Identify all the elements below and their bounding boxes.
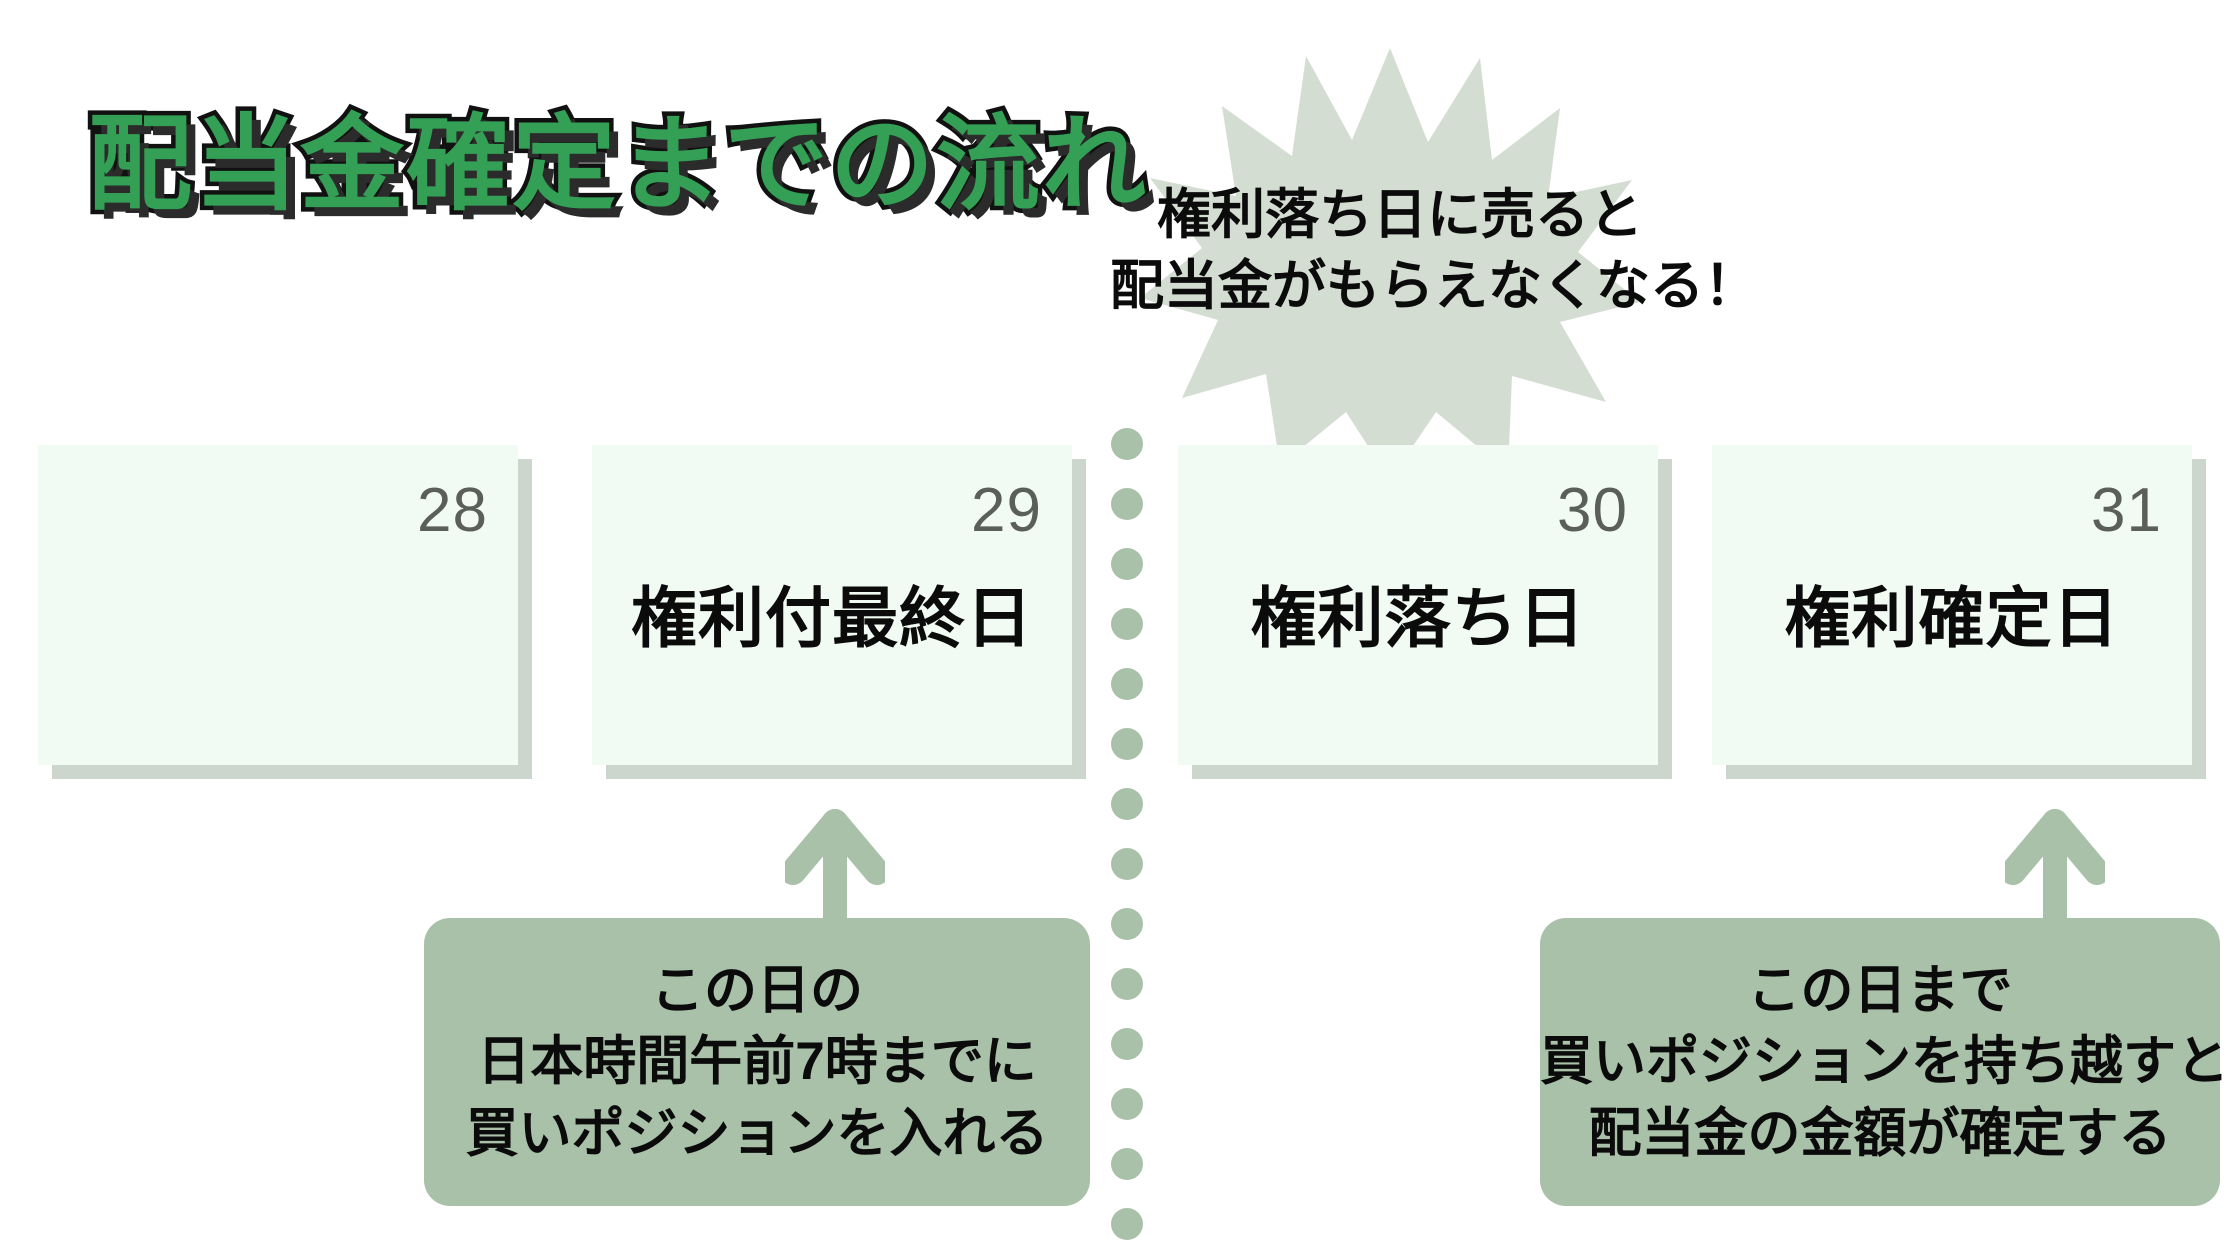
- callout-left-line-2: 日本時間午前7時までに: [424, 1026, 1090, 1097]
- card-day-number: 31: [2091, 475, 2162, 546]
- callout-right-line-2: 買いポジションを持ち越すと: [1540, 1026, 2220, 1097]
- divider-dot: [1111, 1028, 1143, 1060]
- callout-box-left[interactable]: この日の 日本時間午前7時までに 買いポジションを入れる: [424, 918, 1090, 1206]
- divider-dot: [1111, 728, 1143, 760]
- card-day-number: 29: [971, 475, 1042, 546]
- card-day-label: 権利落ち日: [1178, 565, 1658, 661]
- card-day-number: 28: [417, 475, 488, 546]
- divider-dot: [1111, 1088, 1143, 1120]
- divider-dot: [1111, 788, 1143, 820]
- page-title: 配当金確定までの流れ: [88, 108, 1148, 222]
- divider-dot: [1111, 908, 1143, 940]
- calendar-card-30[interactable]: 30 権利落ち日: [1178, 445, 1658, 765]
- divider-dot: [1111, 668, 1143, 700]
- card-day-label: 権利付最終日: [592, 565, 1072, 661]
- divider-dot: [1111, 1148, 1143, 1180]
- infographic-canvas: 配当金確定までの流れ 権利落ち日に売ると 配当金がもらえなくなる！ 28: [0, 0, 2240, 1260]
- divider-dot: [1111, 968, 1143, 1000]
- card-day-label: 権利確定日: [1712, 565, 2192, 661]
- divider-dot: [1111, 608, 1143, 640]
- callout-right-line-3: 配当金の金額が確定する: [1540, 1098, 2220, 1169]
- starburst-text: 権利落ち日に売ると 配当金がもらえなくなる！: [1110, 180, 1690, 323]
- starburst-line-2: 配当金がもらえなくなる！: [1110, 251, 1690, 322]
- callout-box-right[interactable]: この日まで 買いポジションを持ち越すと 配当金の金額が確定する: [1540, 918, 2220, 1206]
- starburst-line-1: 権利落ち日に売ると: [1110, 180, 1690, 251]
- card-day-number: 30: [1557, 475, 1628, 546]
- divider-dot: [1111, 428, 1143, 460]
- divider-dot: [1111, 488, 1143, 520]
- divider-dot: [1111, 848, 1143, 880]
- calendar-card-31[interactable]: 31 権利確定日: [1712, 445, 2192, 765]
- calendar-card-29[interactable]: 29 権利付最終日: [592, 445, 1072, 765]
- calendar-card-28[interactable]: 28: [38, 445, 518, 765]
- callout-left-line-3: 買いポジションを入れる: [424, 1098, 1090, 1169]
- divider-dot: [1111, 1208, 1143, 1240]
- divider-dot: [1111, 548, 1143, 580]
- callout-left-line-1: この日の: [424, 955, 1090, 1026]
- callout-right-line-1: この日まで: [1540, 955, 2220, 1026]
- vertical-dotted-line: [1111, 428, 1143, 1260]
